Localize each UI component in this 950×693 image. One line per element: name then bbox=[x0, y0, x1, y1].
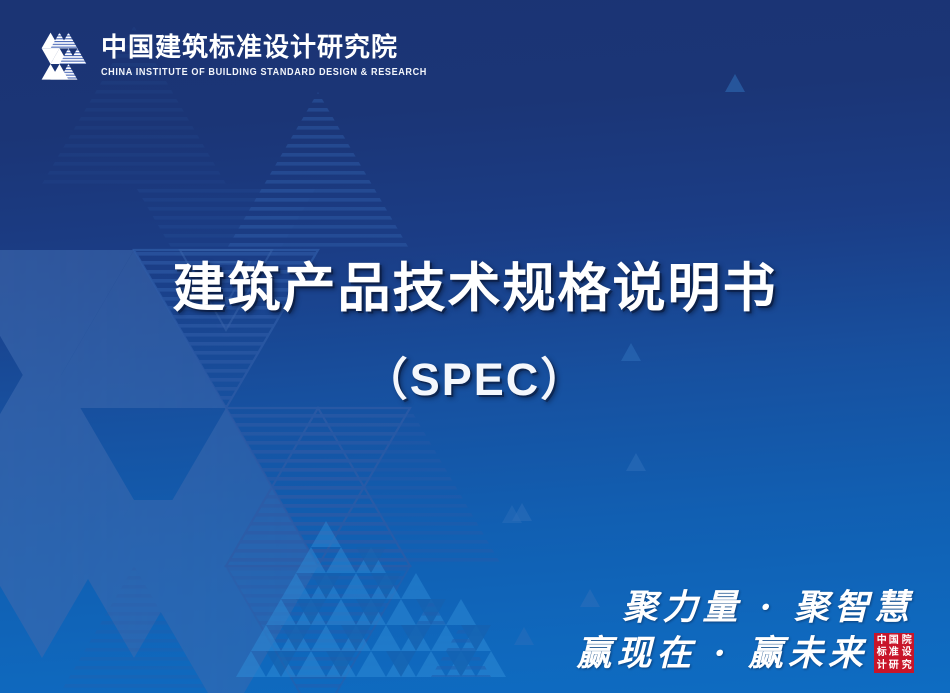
red-seal-stamp: 中国院标准设计研究 bbox=[874, 633, 914, 673]
seal-character-1: 中 bbox=[876, 635, 886, 645]
seal-character-3: 院 bbox=[902, 635, 912, 645]
brand-logo-text: 中国建筑标准设计研究院 CHINA INSTITUTE OF BUILDING … bbox=[101, 34, 427, 76]
page-title: 建筑产品技术规格说明书 bbox=[0, 258, 950, 321]
slogan-line-2: 赢现在 · 赢未来 bbox=[576, 631, 868, 677]
seal-character-9: 究 bbox=[902, 661, 912, 671]
brand-logo: 中国建筑标准设计研究院 CHINA INSTITUTE OF BUILDING … bbox=[36, 27, 427, 83]
small-triangle-fan bbox=[236, 521, 506, 677]
organization-name-cn: 中国建筑标准设计研究院 bbox=[101, 34, 427, 64]
slogan-line-1: 聚力量 · 聚智慧 bbox=[622, 585, 914, 631]
hexagon-triangle-logo-icon bbox=[36, 27, 92, 83]
page-subtitle: （SPEC） bbox=[0, 343, 950, 408]
organization-name-en: CHINA INSTITUTE OF BUILDING STANDARD DES… bbox=[101, 66, 427, 77]
scattered-triangle-group-right bbox=[502, 505, 534, 645]
slogan-block: 聚力量 · 聚智慧 赢现在 · 赢未来 中国院标准设计研究 bbox=[576, 585, 914, 677]
seal-character-8: 研 bbox=[889, 661, 899, 671]
seal-character-5: 准 bbox=[889, 648, 899, 658]
seal-character-7: 计 bbox=[876, 661, 886, 671]
seal-character-2: 国 bbox=[889, 635, 899, 645]
slogan-row-2: 赢现在 · 赢未来 中国院标准设计研究 bbox=[576, 631, 914, 677]
presentation-title-slide: 中国建筑标准设计研究院 CHINA INSTITUTE OF BUILDING … bbox=[0, 0, 950, 693]
title-block: 建筑产品技术规格说明书 （SPEC） bbox=[0, 258, 950, 408]
seal-character-6: 设 bbox=[902, 648, 912, 658]
seal-character-4: 标 bbox=[876, 648, 886, 658]
